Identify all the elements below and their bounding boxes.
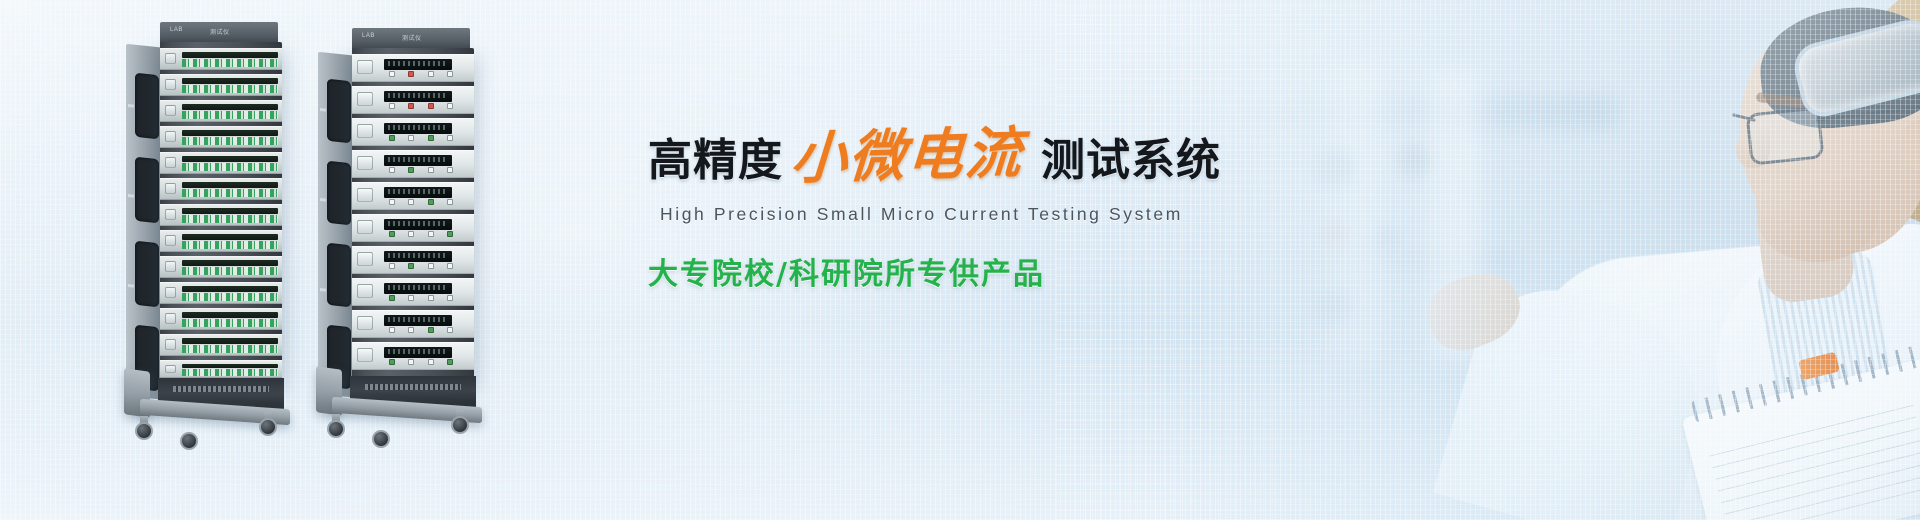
lab-blur-dot (1396, 144, 1430, 178)
caster-wheel (327, 420, 345, 438)
rack-cabinet-led-modules: LAB 测试仪 (118, 16, 298, 436)
rail-tick (128, 104, 134, 108)
rail-tick (128, 194, 134, 198)
module-knob (165, 105, 176, 115)
module-button-green (428, 135, 434, 141)
module-button (408, 199, 414, 205)
module-led-array (182, 345, 278, 353)
lcd-readout (388, 189, 448, 194)
module-display (182, 130, 278, 136)
lcd-readout (388, 253, 448, 258)
module-led-array (182, 163, 278, 171)
module-button (389, 71, 395, 77)
module-button-green (428, 327, 434, 333)
module-knob (357, 188, 373, 202)
rack-model-label: 测试仪 (402, 33, 422, 42)
caster-wheel (451, 416, 469, 434)
module-knob (165, 339, 176, 349)
rail-cutout (327, 79, 351, 143)
module-lcd-display (384, 315, 452, 326)
caster-wheel (180, 432, 198, 450)
module-button (447, 71, 453, 77)
module-button (389, 263, 395, 269)
lab-shelf-blur (1188, 96, 1618, 130)
lcd-instrument-module (352, 86, 474, 114)
lab-blur-dot (1318, 220, 1348, 246)
instrument-module (160, 334, 282, 356)
lab-blur-dot (1310, 148, 1354, 188)
eyeglasses-icon (1745, 106, 1824, 165)
module-button-green (408, 167, 414, 173)
rail-cutout (135, 241, 159, 307)
lcd-instrument-module (352, 214, 474, 242)
module-display (182, 208, 278, 214)
rail-cutout (135, 157, 159, 223)
rail-cutout (135, 73, 159, 139)
rail-cutout (327, 161, 351, 225)
module-led-array (182, 319, 278, 327)
module-knob (165, 209, 176, 219)
caster-wheel (135, 422, 153, 440)
lcd-readout (388, 317, 448, 322)
instrument-module (160, 230, 282, 252)
module-lcd-display (384, 283, 452, 294)
lcd-instrument-module (352, 246, 474, 274)
banner-headline: 高精度 小微电流 测试系统 (648, 128, 1208, 184)
module-knob (357, 156, 373, 170)
instrument-module (160, 360, 282, 378)
module-button (389, 103, 395, 109)
module-button (428, 167, 434, 173)
module-led-array (182, 137, 278, 145)
rail-tick (320, 198, 326, 202)
module-knob (357, 60, 373, 74)
module-display (182, 52, 278, 58)
module-display (182, 286, 278, 292)
rail-tick (320, 108, 326, 112)
module-led-array (182, 267, 278, 275)
lcd-readout (388, 93, 448, 98)
module-button (447, 295, 453, 301)
module-button (428, 71, 434, 77)
headline-highlight-text: 小微电流 (789, 125, 1025, 187)
module-display (182, 104, 278, 110)
rack-base-nameplate (173, 386, 269, 392)
lcd-instrument-module (352, 342, 474, 370)
module-led-array (182, 85, 278, 93)
module-knob (357, 252, 373, 266)
module-knob (357, 316, 373, 330)
module-button (447, 167, 453, 173)
module-lcd-display (384, 123, 452, 134)
module-button (428, 231, 434, 237)
module-button (408, 135, 414, 141)
lab-blur-dot (1372, 226, 1400, 250)
module-button (389, 167, 395, 173)
module-button (447, 327, 453, 333)
laboratory-scientists-photo (1160, 0, 1920, 520)
module-display (182, 234, 278, 240)
rack-frame (160, 42, 282, 382)
module-button-green (389, 359, 395, 365)
module-button (389, 199, 395, 205)
module-button-green (408, 263, 414, 269)
module-knob (165, 79, 176, 89)
product-banner: LAB 测试仪 (0, 0, 1920, 520)
module-button-red (408, 103, 414, 109)
module-knob (165, 157, 176, 167)
instrument-module (160, 126, 282, 148)
module-button-green (447, 359, 453, 365)
module-led-array (182, 215, 278, 223)
module-lcd-display (384, 155, 452, 166)
module-led-array (182, 189, 278, 197)
module-button-green (447, 231, 453, 237)
rail-tick (128, 284, 134, 288)
module-lcd-display (384, 59, 452, 70)
module-button (408, 327, 414, 333)
module-display (182, 156, 278, 162)
module-knob (165, 365, 176, 373)
module-knob (165, 131, 176, 141)
module-knob (165, 261, 176, 271)
module-led-array (182, 241, 278, 249)
lcd-readout (388, 221, 448, 226)
rack-brand-label: LAB (362, 33, 375, 39)
rack-base-nameplate (365, 384, 461, 390)
module-knob (357, 220, 373, 234)
module-button (408, 359, 414, 365)
lcd-readout (388, 61, 448, 66)
banner-subtitle-chinese: 大专院校/科研院所专供产品 (648, 249, 1208, 293)
module-knob (165, 235, 176, 245)
module-button-red (408, 71, 414, 77)
module-button-red (428, 103, 434, 109)
module-button-green (389, 231, 395, 237)
banner-copy-block: 高精度 小微电流 测试系统 High Precision Small Micro… (648, 128, 1208, 293)
caster-wheel (259, 418, 277, 436)
instrument-module (160, 152, 282, 174)
module-knob (165, 313, 176, 323)
module-knob (357, 92, 373, 106)
rack-frame (352, 48, 474, 380)
banner-subtitle-english: High Precision Small Micro Current Testi… (660, 204, 1208, 225)
instrument-module (160, 48, 282, 70)
module-led-array (182, 293, 278, 301)
headline-lead-text: 高精度 (648, 139, 783, 183)
module-display (182, 338, 278, 344)
module-lcd-display (384, 251, 452, 262)
lcd-instrument-module (352, 278, 474, 306)
lcd-instrument-module (352, 150, 474, 178)
module-knob (165, 183, 176, 193)
module-lcd-display (384, 219, 452, 230)
lab-blur-dot (1310, 290, 1350, 324)
lcd-instrument-module (352, 118, 474, 146)
module-button-green (389, 295, 395, 301)
lcd-instrument-module (352, 182, 474, 210)
module-knob (357, 284, 373, 298)
module-led-array (182, 111, 278, 119)
instrument-module (160, 100, 282, 122)
module-button (408, 295, 414, 301)
module-knob (165, 287, 176, 297)
lcd-readout (388, 157, 448, 162)
module-button (447, 103, 453, 109)
module-button (428, 295, 434, 301)
module-lcd-display (384, 187, 452, 198)
module-led-array (182, 59, 278, 67)
instrument-module (160, 282, 282, 304)
lcd-readout (388, 349, 448, 354)
module-button (389, 327, 395, 333)
instrument-module (160, 204, 282, 226)
module-display (182, 364, 278, 369)
module-button-green (389, 135, 395, 141)
module-button (447, 135, 453, 141)
module-knob (165, 53, 176, 63)
instrument-module (160, 256, 282, 278)
module-led-array (182, 369, 278, 375)
module-button (447, 199, 453, 205)
instrument-module (160, 308, 282, 330)
rail-tick (320, 288, 326, 292)
module-button (428, 263, 434, 269)
module-button (428, 359, 434, 365)
instrument-module (160, 74, 282, 96)
module-display (182, 182, 278, 188)
module-display (182, 312, 278, 318)
rack-cabinet-lcd-instruments: LAB 测试仪 (310, 22, 490, 434)
module-knob (357, 124, 373, 138)
module-lcd-display (384, 91, 452, 102)
module-display (182, 78, 278, 84)
module-button (447, 263, 453, 269)
module-knob (357, 348, 373, 362)
module-button-green (428, 199, 434, 205)
headline-tail-text: 测试系统 (1041, 139, 1221, 183)
rail-cutout (327, 243, 351, 307)
module-lcd-display (384, 347, 452, 358)
caster-wheel (372, 430, 390, 448)
lcd-instrument-module (352, 310, 474, 338)
lcd-readout (388, 125, 448, 130)
instrument-module (160, 178, 282, 200)
module-display (182, 260, 278, 266)
rack-model-label: 测试仪 (210, 27, 230, 36)
lcd-instrument-module (352, 54, 474, 82)
lcd-readout (388, 285, 448, 290)
module-button (408, 231, 414, 237)
rack-brand-label: LAB (170, 27, 183, 33)
